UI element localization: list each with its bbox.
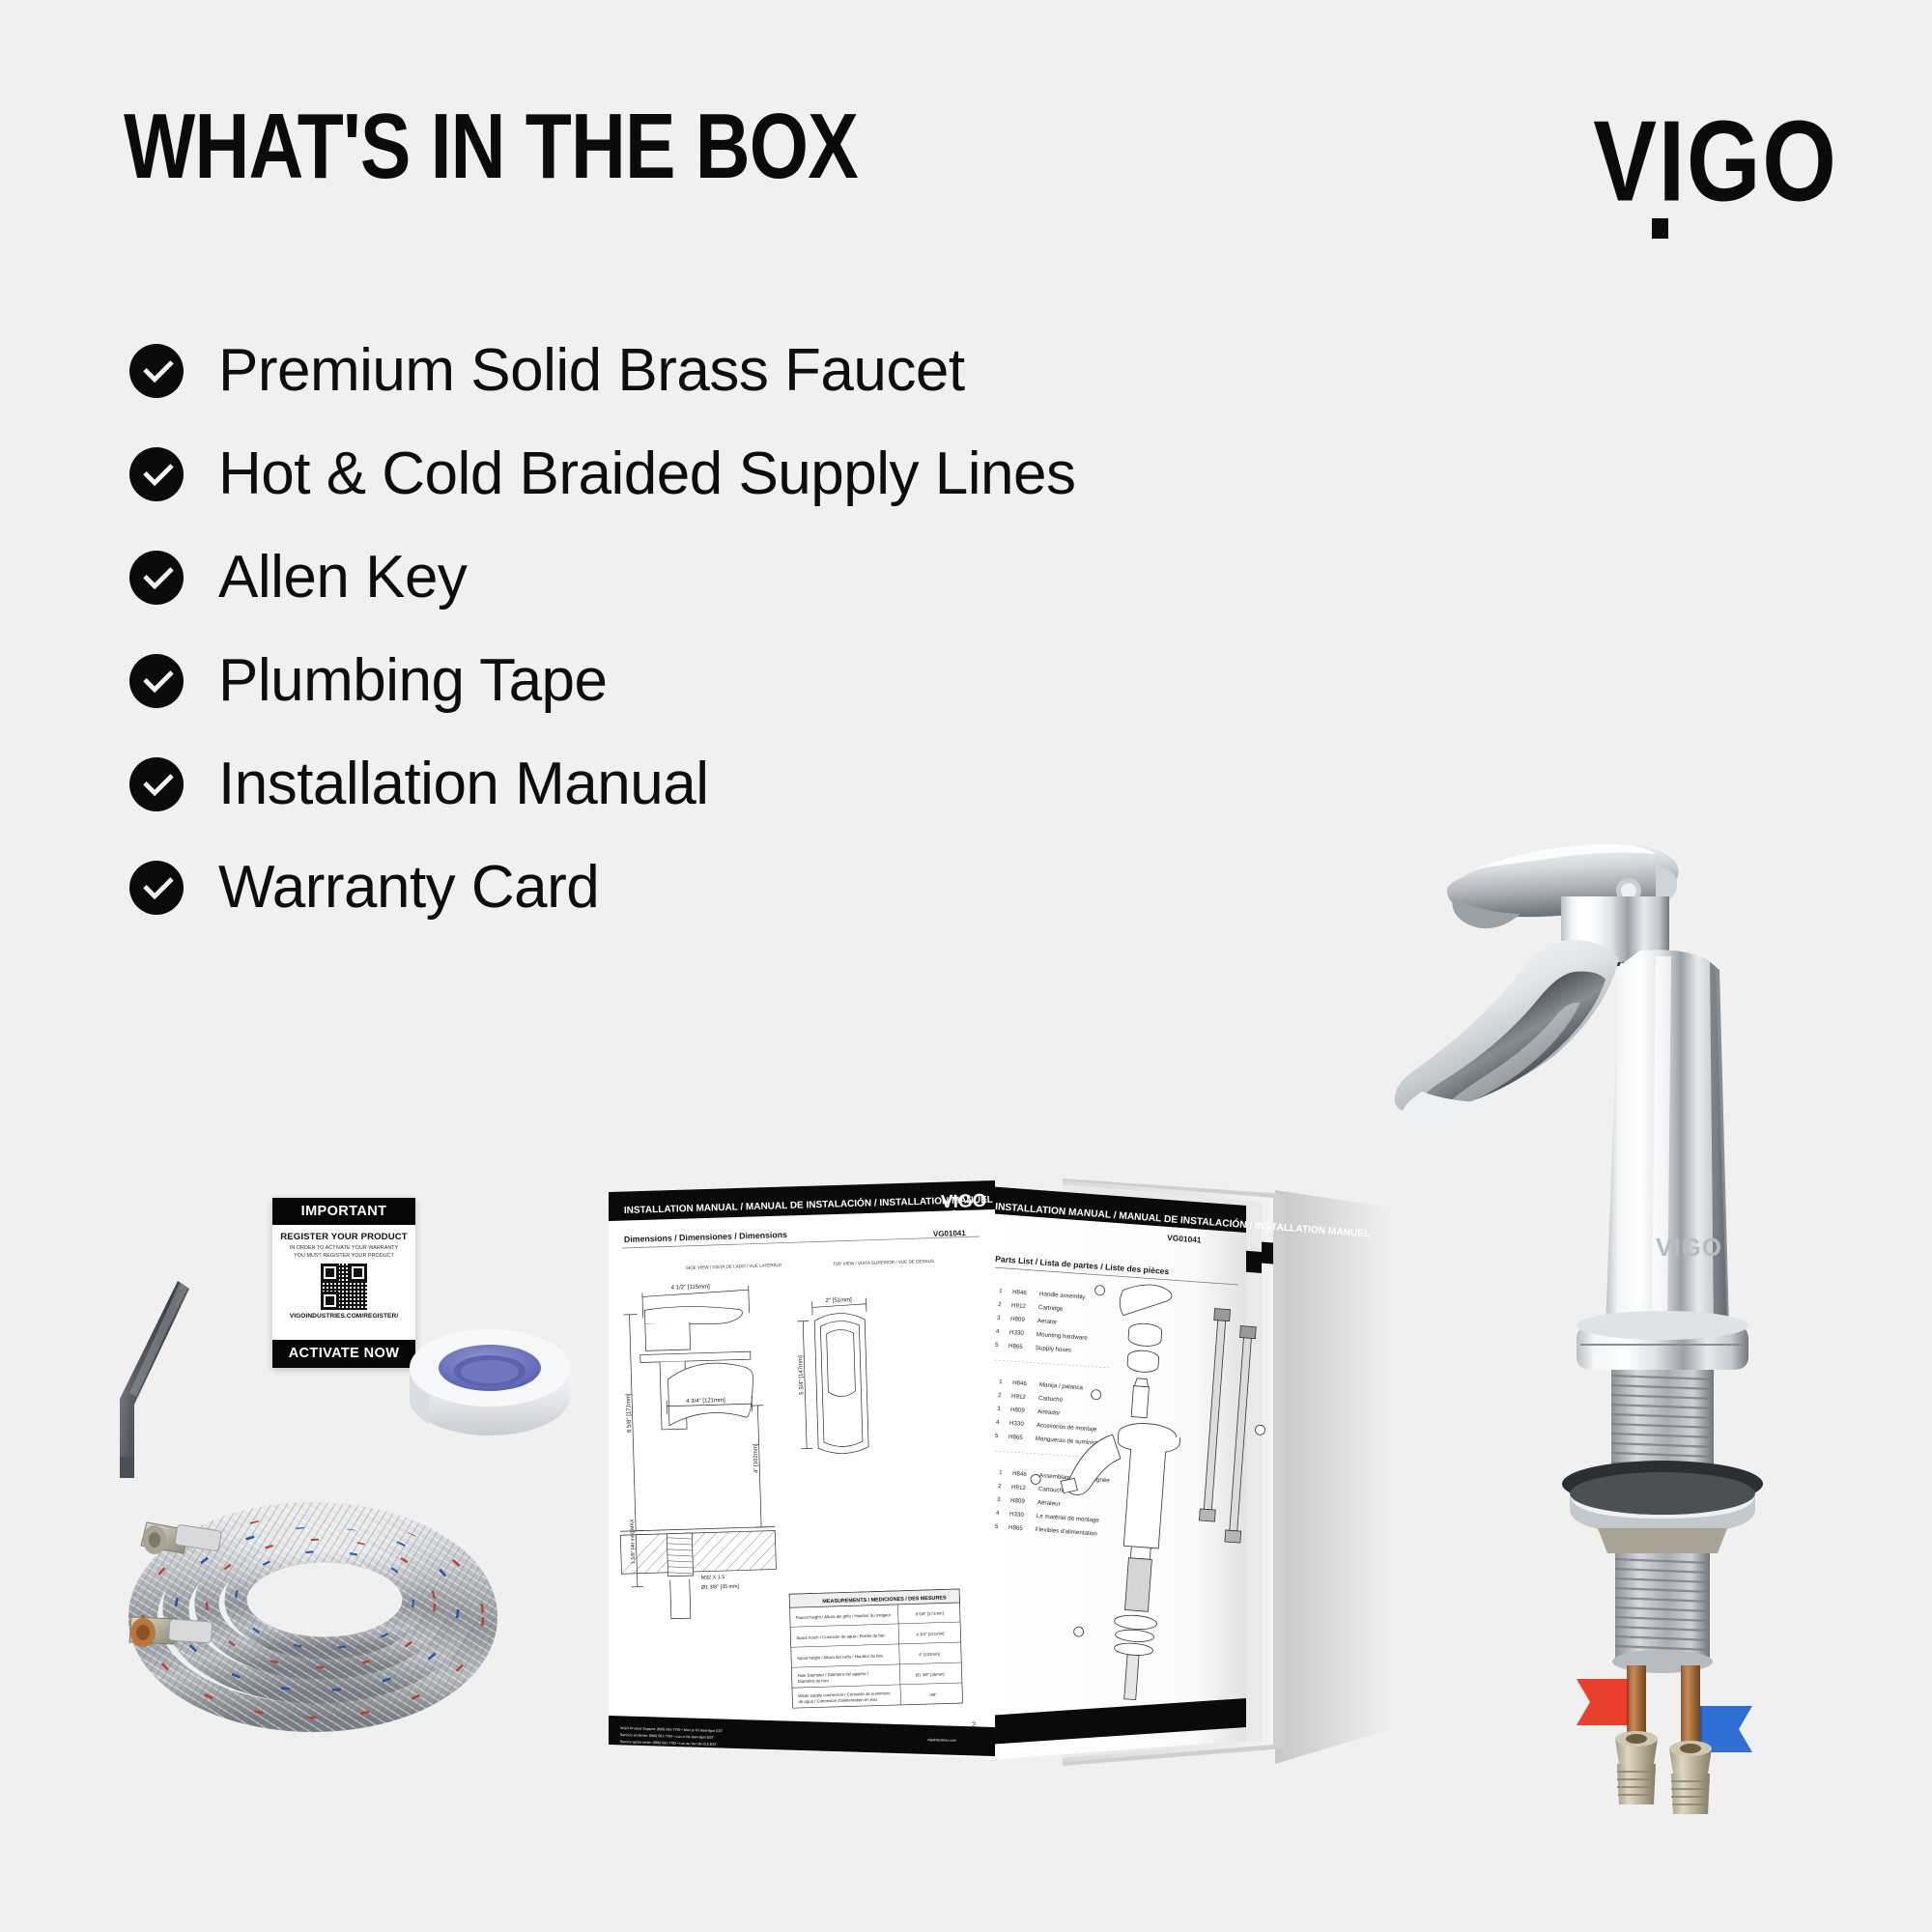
qr-eye-top-right [349,1264,367,1282]
svg-text:H330: H330 [1009,1420,1025,1428]
card-subtitle-line2: YOU MUST REGISTER YOUR PRODUCT [294,1253,394,1259]
hot-supply-fitting [1615,1731,1658,1804]
page-title: WHAT'S IN THE BOX [124,100,858,193]
list-item-label: Hot & Cold Braided Supply Lines [218,444,1075,504]
list-item-label: Allen Key [218,548,467,608]
faucet-inlet-tubes [1577,1665,1752,1814]
check-circle-icon [129,654,184,708]
svg-text:4 3/4" [121mm]: 4 3/4" [121mm] [686,1398,725,1405]
svg-text:H865: H865 [1009,1524,1024,1532]
svg-text:H330: H330 [1009,1329,1025,1337]
braided-supply-lines-image [93,1464,508,1774]
check-circle-icon [129,344,184,398]
left-page-brand: VIGO [941,1191,987,1212]
manual-left-page: INSTALLATION MANUAL / MANUAL DE INSTALAC… [609,1180,995,1758]
infographic-canvas: WHAT'S IN THE BOX VIGO Premium Solid Bra… [0,0,1932,1932]
supply-line-end-lower [129,1617,213,1647]
svg-text:H912: H912 [1011,1393,1027,1401]
svg-text:H809: H809 [1010,1316,1026,1323]
qr-eye-top-left [321,1264,339,1282]
check-circle-icon [129,757,184,811]
check-circle-icon [129,551,184,605]
svg-text:H846: H846 [1012,1470,1028,1478]
card-subtitle-line1: IN ORDER TO ACTIVATE YOUR WARRANTY [290,1245,399,1251]
svg-text:2" [51mm]: 2" [51mm] [826,1297,853,1304]
svg-text:4" [102mm]: 4" [102mm] [753,1443,760,1473]
list-item-label: Installation Manual [218,754,708,814]
svg-text:H865: H865 [1009,1343,1024,1350]
qr-code-icon [321,1264,367,1310]
vigo-wordmark: VIGO [1593,104,1814,219]
list-item: Plumbing Tape [129,629,1347,732]
svg-text:Diamètre du trou: Diamètre du trou [798,1678,830,1684]
svg-text:4" [102mm]: 4" [102mm] [919,1652,940,1658]
svg-text:4 1/2" [115mm]: 4 1/2" [115mm] [671,1284,711,1291]
list-item: Hot & Cold Braided Supply Lines [129,422,1347,526]
svg-text:Ø1 3/8" [35mm]: Ø1 3/8" [35mm] [916,1672,945,1678]
card-header: IMPORTANT [272,1198,415,1225]
list-item-label: Warranty Card [218,858,599,918]
card-body: REGISTER YOUR PRODUCT IN ORDER TO ACTIVA… [272,1225,415,1323]
list-item: Allen Key [129,526,1347,629]
svg-text:H330: H330 [1009,1511,1025,1519]
hot-supply-tag [1577,1679,1629,1725]
svg-text:H865: H865 [1009,1434,1024,1441]
qr-eye-bottom-left [321,1292,339,1310]
svg-text:5 3/4" [147mm]: 5 3/4" [147mm] [798,1355,805,1395]
card-subtitle: IN ORDER TO ACTIVATE YOUR WARRANTY YOU M… [278,1245,410,1260]
check-circle-icon [129,447,184,501]
svg-text:6 5/8" [171mm]: 6 5/8" [171mm] [626,1393,633,1433]
check-circle-icon [129,861,184,915]
vigo-logo: VIGO [1563,104,1814,230]
svg-text:4 3/4" [121mm]: 4 3/4" [121mm] [916,1632,944,1637]
cold-supply-fitting [1669,1741,1712,1814]
list-item: Warranty Card [129,836,1347,939]
faucet-threaded-shank-upper [1611,1370,1714,1474]
svg-text:Ø1 3/8" [35 mm]: Ø1 3/8" [35 mm] [701,1584,740,1591]
list-item: Premium Solid Brass Faucet [129,319,1347,422]
svg-text:H846: H846 [1012,1289,1028,1296]
installation-manual-image: GO O INSTALLATION MANUAL / MANUAL DE INS… [609,1169,1391,1787]
vigo-logo-dot [1652,218,1668,239]
svg-text:6 5/8" [171mm]: 6 5/8" [171mm] [916,1611,944,1617]
svg-text:H809: H809 [1010,1497,1026,1505]
box-contents-list: Premium Solid Brass Faucet Hot & Cold Br… [129,319,1347,939]
faucet-column: VIGO [1605,950,1729,1329]
svg-text:H809: H809 [1010,1406,1026,1414]
svg-text:Aerator: Aerator [1037,1318,1058,1325]
card-footer: ACTIVATE NOW [272,1340,415,1368]
svg-text:H846: H846 [1012,1379,1028,1387]
faucet-engraving: VIGO [1656,1233,1722,1262]
measurements-table: MEASUREMENTS / MEDICIONES / DES MESURES … [789,1589,962,1708]
list-item: Installation Manual [129,732,1347,836]
plumbing-tape-image [404,1323,576,1457]
list-item-label: Plumbing Tape [218,651,608,711]
faucet-base-flange [1577,1311,1748,1370]
faucet-product-image: VIGO [1391,773,1913,1816]
faucet-threaded-shank-lower [1612,1553,1713,1673]
svg-text:3/8": 3/8" [929,1692,937,1697]
card-url: VIGOINDUSTRIES.COM/REGISTER/ [278,1313,410,1320]
faucet-mounting-gasket [1562,1461,1763,1553]
warranty-registration-card: IMPORTANT REGISTER YOUR PRODUCT IN ORDER… [272,1198,415,1368]
svg-text:H912: H912 [1011,1484,1027,1492]
manual-footer-support: VIGO Product Support: (866) 591-7792 • M… [620,1726,724,1747]
svg-text:H912: H912 [1011,1302,1027,1310]
list-item-label: Premium Solid Brass Faucet [218,341,965,401]
svg-text:M32 X 1.5: M32 X 1.5 [701,1575,725,1581]
card-title: REGISTER YOUR PRODUCT [278,1232,410,1242]
